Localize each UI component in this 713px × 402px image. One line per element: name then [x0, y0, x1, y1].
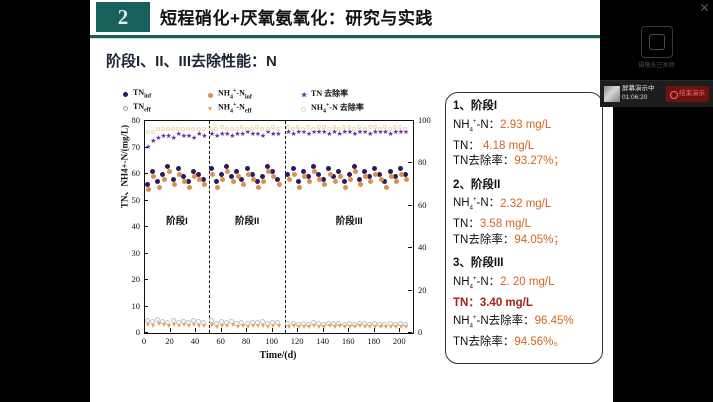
- data-point: [231, 179, 236, 184]
- section-number-badge: 2: [96, 2, 150, 32]
- data-point: [384, 325, 388, 329]
- x-axis-tick-mark: [195, 328, 196, 332]
- x-axis-tick-label: 120: [286, 336, 308, 346]
- data-point: [261, 324, 265, 328]
- removal-performance-chart: TNinfNH4+-Ninf★TN 去除率TNeffNH4+-NeffNH4+-…: [98, 88, 438, 373]
- notes-spacer: [453, 170, 595, 178]
- data-point: [379, 177, 384, 182]
- data-point: [146, 323, 150, 327]
- data-point: [328, 172, 333, 177]
- data-point: [363, 325, 367, 329]
- data-point: [296, 179, 301, 184]
- data-point: [202, 324, 206, 328]
- data-point: [162, 177, 167, 182]
- data-point: [150, 169, 155, 174]
- x-axis-tick-label: 60: [210, 336, 232, 346]
- data-point: [176, 166, 181, 171]
- data-point: [145, 182, 150, 187]
- x-axis-tick-mark: [348, 328, 349, 332]
- data-point: [156, 127, 160, 131]
- data-point: [245, 166, 250, 171]
- data-point: [230, 127, 234, 131]
- close-icon[interactable]: [700, 3, 709, 12]
- legend-label: TNeff: [133, 102, 151, 114]
- data-point: [172, 323, 176, 327]
- data-point: [307, 325, 311, 329]
- stage-label: 阶段II: [217, 213, 277, 227]
- data-point: [358, 324, 362, 328]
- page-title: 短程硝化+厌氧氨氧化：研究与实践: [160, 4, 433, 29]
- legend-label: NH4+-N 去除率: [311, 102, 364, 115]
- notes-spacer: [453, 248, 595, 256]
- data-point: [187, 185, 192, 190]
- legend-marker: [301, 107, 306, 112]
- data-point: [202, 127, 206, 131]
- data-point: [251, 177, 256, 182]
- stage-label: 阶段III: [319, 213, 379, 227]
- data-point: [343, 185, 348, 190]
- data-point: [166, 127, 170, 131]
- data-point: [368, 325, 372, 329]
- data-point: [155, 179, 160, 184]
- secondary-y-axis-tick-mark: [408, 162, 412, 163]
- notes-line: NH4+-N去除率：96.45%: [453, 311, 595, 335]
- data-point: [161, 127, 165, 131]
- data-point: [328, 324, 332, 328]
- data-point: [377, 172, 382, 177]
- y-axis-tick-mark: [144, 306, 148, 307]
- data-point: [291, 166, 296, 171]
- data-point: [192, 323, 196, 327]
- secondary-y-axis-tick-mark: [408, 120, 412, 121]
- data-point: ★: [275, 131, 281, 138]
- x-axis-tick-label: 20: [159, 336, 181, 346]
- data-point: [317, 125, 321, 129]
- secondary-y-axis-tick-label: 60: [418, 200, 440, 210]
- data-point: [234, 169, 239, 174]
- data-point: [182, 323, 186, 327]
- x-axis-tick-label: 160: [337, 336, 359, 346]
- data-point: [306, 125, 310, 129]
- camera-status-label: 摄像头已关闭: [600, 60, 713, 69]
- data-point: [255, 125, 259, 129]
- notes-line: TN去除率：94.05%；: [453, 233, 595, 249]
- notes-line: TN：3.58 mg/L: [453, 217, 595, 233]
- data-point: [285, 172, 290, 177]
- data-point: [260, 127, 264, 131]
- data-point: [394, 325, 398, 329]
- stage-divider: [209, 121, 210, 333]
- y-axis-tick-label: 30: [120, 248, 140, 258]
- legend-item: ★TN 去除率: [298, 88, 348, 101]
- data-point: [347, 172, 352, 177]
- data-point: [292, 172, 297, 177]
- stop-sharing-button[interactable]: 结束演示: [666, 86, 709, 102]
- data-point: [326, 166, 331, 171]
- data-point: [151, 324, 155, 328]
- data-point: [348, 177, 353, 182]
- data-point: [368, 179, 373, 184]
- stage-divider: [285, 121, 286, 333]
- data-point: [372, 166, 377, 171]
- y-axis-label: TN、NH4+-N/(mg/L): [118, 107, 131, 227]
- x-axis-tick-mark: [246, 328, 247, 332]
- x-axis-tick-mark: [144, 328, 145, 332]
- notes-line: NH4+-N：2.93 mg/L: [453, 115, 595, 139]
- notes-heading: 1、阶段I: [453, 99, 595, 114]
- data-point: [210, 172, 215, 177]
- legend-item: NH4+-Ninf: [205, 88, 252, 101]
- data-point: [256, 324, 260, 328]
- legend-marker-icon: [298, 103, 309, 114]
- data-point: [197, 324, 201, 328]
- data-point: [342, 179, 347, 184]
- data-point: [186, 127, 190, 131]
- chart-legend: TNinfNH4+-Ninf★TN 去除率TNeffNH4+-NeffNH4+-…: [120, 88, 438, 118]
- data-point: [271, 125, 275, 129]
- data-point: [287, 325, 291, 329]
- data-point: [292, 324, 296, 328]
- notes-line: TN：3.40 mg/L: [453, 296, 595, 312]
- legend-row: TNinfNH4+-Ninf★TN 去除率: [120, 88, 438, 101]
- legend-marker: [123, 92, 128, 97]
- x-axis-tick-label: 200: [388, 336, 410, 346]
- summary-notes-box: 1、阶段INH4+-N：2.93 mg/LTN： 4.18 mg/LTN去除率：…: [445, 92, 603, 364]
- x-axis-tick-label: 80: [235, 336, 257, 346]
- data-point: [146, 187, 151, 192]
- data-point: [215, 185, 220, 190]
- x-axis-tick-mark: [374, 328, 375, 332]
- data-point: [191, 127, 195, 131]
- data-point: [220, 324, 224, 328]
- legend-marker-icon: [205, 103, 216, 114]
- data-point: [388, 169, 393, 174]
- data-point: [333, 179, 338, 184]
- data-point: [307, 179, 312, 184]
- x-axis-tick-mark: [297, 328, 298, 332]
- screen-share-root: 2 短程硝化+厌氧氨氧化：研究与实践 阶段I、II、III去除性能：N TNin…: [0, 0, 713, 402]
- data-point: [399, 172, 404, 177]
- data-point: [171, 127, 175, 131]
- y-axis-tick-mark: [144, 173, 148, 174]
- legend-marker: [208, 107, 212, 111]
- data-point: [241, 182, 246, 187]
- data-point: [172, 182, 177, 187]
- legend-marker-icon: ★: [298, 88, 309, 99]
- presentation-slide: 2 短程硝化+厌氧氨氧化：研究与实践 阶段I、II、III去除性能：N TNin…: [90, 0, 613, 402]
- data-point: [165, 164, 170, 169]
- data-point: [358, 182, 363, 187]
- secondary-y-axis-tick-mark: [408, 247, 412, 248]
- secondary-y-axis-tick-label: 0: [418, 327, 440, 337]
- data-point: [384, 185, 389, 190]
- data-point: [353, 169, 358, 174]
- data-point: [343, 325, 347, 329]
- data-point: [246, 172, 251, 177]
- data-point: [338, 174, 343, 179]
- legend-marker-icon: [120, 88, 131, 99]
- data-point: [277, 182, 282, 187]
- data-point: [146, 130, 150, 134]
- secondary-y-axis-tick-label: 40: [418, 242, 440, 252]
- x-axis-tick-mark: [272, 328, 273, 332]
- data-point: [260, 174, 265, 179]
- slide-title-bar: 2 短程硝化+厌氧氨氧化：研究与实践: [90, 0, 613, 38]
- x-axis-tick-mark: [170, 328, 171, 332]
- data-point: [277, 324, 281, 328]
- data-point: [181, 127, 185, 131]
- title-rule-secondary: [90, 38, 613, 39]
- data-point: [394, 179, 399, 184]
- share-thumbnail: [604, 86, 620, 102]
- data-point: [167, 169, 172, 174]
- x-axis-tick-mark: [221, 328, 222, 332]
- legend-item: NH4+-Neff: [205, 102, 252, 115]
- data-point: [301, 169, 306, 174]
- x-axis-tick-label: 40: [184, 336, 206, 346]
- y-axis-tick-mark: [144, 226, 148, 227]
- data-point: [389, 174, 394, 179]
- data-point: [209, 166, 214, 171]
- secondary-y-axis-tick-label: 80: [418, 157, 440, 167]
- data-point: [236, 174, 241, 179]
- legend-label: TN 去除率: [311, 88, 348, 99]
- data-point: [389, 325, 393, 329]
- data-point: [362, 169, 367, 174]
- data-point: [160, 172, 165, 177]
- stage-label: 阶段I: [147, 213, 207, 227]
- data-point: [187, 324, 191, 328]
- notes-heading: 2、阶段II: [453, 178, 595, 193]
- data-point: [404, 177, 409, 182]
- data-point: [333, 325, 337, 329]
- data-point: [151, 174, 156, 179]
- chart-plot-area: 阶段I阶段II阶段III★★★★★★★★★★★★★★★★★★★★★★★★★★★★…: [144, 120, 414, 334]
- share-timer: 01:06:20: [622, 94, 647, 101]
- data-point: [241, 324, 245, 328]
- data-point: [225, 324, 229, 328]
- data-point: ★: [201, 133, 207, 140]
- notes-line: TN去除率：93.27%；: [453, 154, 595, 170]
- x-axis-tick-label: 140: [312, 336, 334, 346]
- data-point: [177, 324, 181, 328]
- data-point: [210, 323, 214, 327]
- data-point: [297, 185, 302, 190]
- data-point: [215, 325, 219, 329]
- x-axis-tick-mark: [323, 328, 324, 332]
- data-point: [312, 324, 316, 328]
- data-point: [357, 177, 362, 182]
- x-axis-tick-label: 100: [261, 336, 283, 346]
- data-point: [220, 125, 224, 129]
- share-status-label: 屏幕演示中: [622, 83, 655, 94]
- y-axis-tick-mark: [144, 120, 148, 121]
- notes-line: NH4+-N：2. 20 mg/L: [453, 272, 595, 296]
- screen-share-control-bar[interactable]: 屏幕演示中 01:06:20 结束演示: [600, 80, 713, 107]
- data-point: [322, 182, 327, 187]
- notes-line: TN： 4.18 mg/L: [453, 139, 595, 155]
- data-point: [266, 325, 270, 329]
- data-point: [151, 130, 155, 134]
- legend-marker: [208, 93, 213, 98]
- data-point: [240, 125, 244, 129]
- data-point: [162, 323, 166, 327]
- data-point: [157, 185, 162, 190]
- legend-label: NH4+-Neff: [218, 102, 252, 114]
- data-point: [404, 325, 408, 329]
- camera-off-icon: [641, 26, 673, 58]
- data-point: [224, 164, 229, 169]
- data-point: [229, 174, 234, 179]
- data-point: [225, 169, 230, 174]
- data-point: [177, 172, 182, 177]
- y-axis-tick-mark: [144, 253, 148, 254]
- data-point: [311, 164, 316, 169]
- data-point: [398, 166, 403, 171]
- y-axis-tick-label: 20: [120, 274, 140, 284]
- x-axis-label: Time/(d): [144, 350, 412, 361]
- data-point: [251, 324, 255, 328]
- notes-heading: 3、阶段III: [453, 256, 595, 271]
- data-point: [261, 179, 266, 184]
- chart-subtitle: 阶段I、II、III去除性能：N: [106, 50, 277, 71]
- data-point: [220, 177, 225, 182]
- data-point: [202, 182, 207, 187]
- data-point: [265, 164, 270, 169]
- legend-marker: ★: [301, 92, 307, 99]
- notes-line: NH4+-N：2.32 mg/L: [453, 194, 595, 218]
- data-point: [353, 325, 357, 329]
- data-point: [338, 324, 342, 328]
- x-axis-tick-label: 0: [133, 336, 155, 346]
- x-axis-tick-mark: [399, 328, 400, 332]
- data-point: [379, 325, 383, 329]
- legend-marker-icon: [205, 89, 216, 100]
- legend-item: TNinf: [120, 88, 151, 101]
- data-point: [352, 164, 357, 169]
- legend-label: TNinf: [133, 88, 151, 100]
- x-axis-tick-label: 180: [363, 336, 385, 346]
- secondary-y-axis-tick-mark: [408, 332, 412, 333]
- legend-item: NH4+-N 去除率: [298, 102, 364, 115]
- data-point: [317, 325, 321, 329]
- data-point: [214, 179, 219, 184]
- y-axis-tick-mark: [144, 332, 148, 333]
- y-axis-tick-mark: [144, 147, 148, 148]
- y-axis-tick-mark: [144, 279, 148, 280]
- data-point: [231, 323, 235, 327]
- data-point: [368, 125, 372, 129]
- legend-row: TNeffNH4+-NeffNH4+-N 去除率: [120, 102, 438, 115]
- notes-line: TN去除率：94.56%。: [453, 335, 595, 351]
- data-point: [214, 127, 218, 131]
- secondary-y-axis-tick-label: 20: [418, 285, 440, 295]
- legend-label: NH4+-Ninf: [218, 88, 252, 100]
- data-point: [236, 325, 240, 329]
- secondary-y-axis-tick-label: 100: [418, 115, 440, 125]
- y-axis-tick-label: 10: [120, 301, 140, 311]
- secondary-y-axis-tick-mark: [408, 290, 412, 291]
- data-point: [157, 322, 161, 326]
- data-point: [171, 177, 176, 182]
- data-point: [287, 177, 292, 182]
- secondary-y-axis-tick-mark: [408, 205, 412, 206]
- data-point: [336, 169, 341, 174]
- y-axis-tick-mark: [144, 200, 148, 201]
- data-point: [275, 177, 280, 182]
- video-panel[interactable]: 摄像头已关闭: [600, 0, 713, 80]
- data-point: [256, 185, 261, 190]
- data-point: [302, 325, 306, 329]
- data-point: [219, 172, 224, 177]
